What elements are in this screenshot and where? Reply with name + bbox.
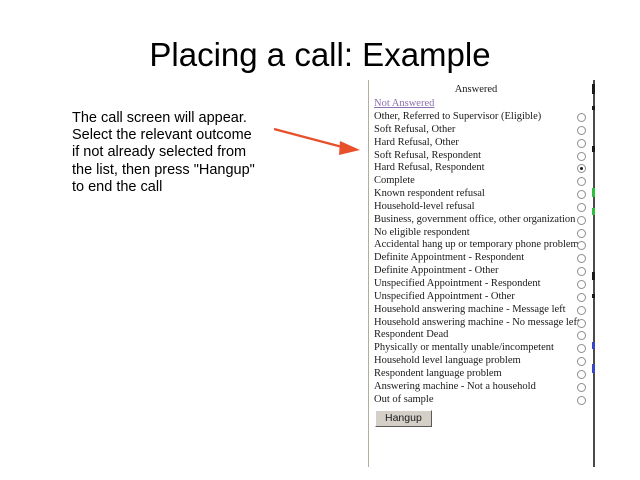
outcome-radio-button[interactable]	[577, 331, 586, 340]
annotation-line: if not already selected from	[72, 144, 272, 161]
outcome-row[interactable]: Soft Refusal, Respondent	[369, 150, 595, 163]
outcome-radio-button[interactable]	[577, 203, 586, 212]
outcome-label: Hard Refusal, Other	[374, 137, 459, 148]
outcome-label: Definite Appointment - Respondent	[374, 252, 524, 263]
outcome-row[interactable]: Household-level refusal	[369, 201, 595, 214]
outcome-label: Known respondent refusal	[374, 188, 485, 199]
outcome-label: Accidental hang up or temporary phone pr…	[374, 239, 579, 250]
annotation-line: The call screen will appear.	[72, 110, 272, 127]
outcome-radio-button[interactable]	[577, 190, 586, 199]
annotation-line: to end the call	[72, 179, 272, 196]
outcome-row[interactable]: Unspecified Appointment - Respondent	[369, 278, 595, 291]
outcome-row[interactable]: Physically or mentally unable/incompeten…	[369, 342, 595, 355]
outcome-radio-button[interactable]	[577, 319, 586, 328]
outcome-radio-button[interactable]	[577, 177, 586, 186]
outcome-label: Business, government office, other organ…	[374, 214, 575, 225]
outcome-label: Respondent language problem	[374, 368, 502, 379]
annotation-text: The call screen will appear. Select the …	[72, 110, 272, 196]
outcome-label: Physically or mentally unable/incompeten…	[374, 342, 554, 353]
outcome-radio-button[interactable]	[577, 267, 586, 276]
outcome-row[interactable]: Definite Appointment - Respondent	[369, 252, 595, 265]
outcome-label: Household answering machine - Message le…	[374, 304, 566, 315]
not-answered-link[interactable]: Not Answered	[374, 98, 434, 109]
hangup-button[interactable]: Hangup	[375, 410, 432, 427]
outcome-label: Definite Appointment - Other	[374, 265, 499, 276]
call-outcome-screen: Answered Not Answered Other, Referred to…	[368, 80, 594, 467]
slide-canvas: Placing a call: Example The call screen …	[0, 0, 640, 480]
outcome-label: Hard Refusal, Respondent	[374, 162, 485, 173]
outcome-radio-button[interactable]	[577, 306, 586, 315]
outcome-row[interactable]: Household answering machine - Message le…	[369, 304, 595, 317]
outcome-row[interactable]: Answering machine - Not a household	[369, 381, 595, 394]
outcome-row[interactable]: Out of sample	[369, 394, 595, 407]
outcome-label: No eligible respondent	[374, 227, 470, 238]
outcome-radio-button[interactable]	[577, 344, 586, 353]
outcome-row[interactable]: Household level language problem	[369, 355, 595, 368]
outcome-radio-button[interactable]	[577, 216, 586, 225]
outcome-label: Answering machine - Not a household	[374, 381, 536, 392]
outcome-radio-button[interactable]	[577, 293, 586, 302]
outcome-row[interactable]: Accidental hang up or temporary phone pr…	[369, 239, 595, 252]
outcome-radio-button[interactable]	[577, 126, 586, 135]
outcome-row[interactable]: Respondent language problem	[369, 368, 595, 381]
annotation-line: the list, then press "Hangup"	[72, 162, 272, 179]
page-title: Placing a call: Example	[0, 36, 640, 74]
outcome-label: Household answering machine - No message…	[374, 317, 580, 328]
outcome-radio-button[interactable]	[577, 254, 586, 263]
outcome-radio-button[interactable]	[577, 383, 586, 392]
outcome-radio-button[interactable]	[577, 241, 586, 250]
outcome-label: Complete	[374, 175, 415, 186]
outcome-radio-button[interactable]	[577, 229, 586, 238]
outcome-radio-button[interactable]	[577, 396, 586, 405]
outcome-label: Out of sample	[374, 394, 434, 405]
pointer-arrow-icon	[272, 122, 364, 162]
outcome-row[interactable]: Unspecified Appointment - Other	[369, 291, 595, 304]
answered-header-label: Answered	[369, 84, 583, 95]
outcome-radio-button[interactable]	[577, 280, 586, 289]
outcome-row[interactable]: Household answering machine - No message…	[369, 317, 595, 330]
outcome-row[interactable]: Complete	[369, 175, 595, 188]
outcome-radio-button[interactable]	[577, 113, 586, 122]
outcome-radio-button[interactable]	[577, 164, 586, 173]
outcome-label: Soft Refusal, Other	[374, 124, 455, 135]
outcome-list: Other, Referred to Supervisor (Eligible)…	[369, 111, 595, 406]
window-edge-rule	[593, 80, 595, 467]
outcome-row[interactable]: Soft Refusal, Other	[369, 124, 595, 137]
outcome-row[interactable]: Hard Refusal, Other	[369, 137, 595, 150]
outcome-row[interactable]: Business, government office, other organ…	[369, 214, 595, 227]
outcome-label: Household level language problem	[374, 355, 521, 366]
outcome-label: Soft Refusal, Respondent	[374, 150, 481, 161]
outcome-label: Other, Referred to Supervisor (Eligible)	[374, 111, 541, 122]
outcome-label: Unspecified Appointment - Respondent	[374, 278, 541, 289]
outcome-row[interactable]: Hard Refusal, Respondent	[369, 162, 595, 175]
outcome-row[interactable]: Known respondent refusal	[369, 188, 595, 201]
outcome-label: Respondent Dead	[374, 329, 448, 340]
outcome-radio-button[interactable]	[577, 139, 586, 148]
annotation-line: Select the relevant outcome	[72, 127, 272, 144]
outcome-label: Household-level refusal	[374, 201, 475, 212]
outcome-row[interactable]: No eligible respondent	[369, 227, 595, 240]
outcome-radio-button[interactable]	[577, 152, 586, 161]
outcome-row[interactable]: Definite Appointment - Other	[369, 265, 595, 278]
outcome-row[interactable]: Respondent Dead	[369, 329, 595, 342]
outcome-radio-button[interactable]	[577, 357, 586, 366]
outcome-label: Unspecified Appointment - Other	[374, 291, 515, 302]
outcome-radio-button[interactable]	[577, 370, 586, 379]
outcome-row[interactable]: Other, Referred to Supervisor (Eligible)	[369, 111, 595, 124]
